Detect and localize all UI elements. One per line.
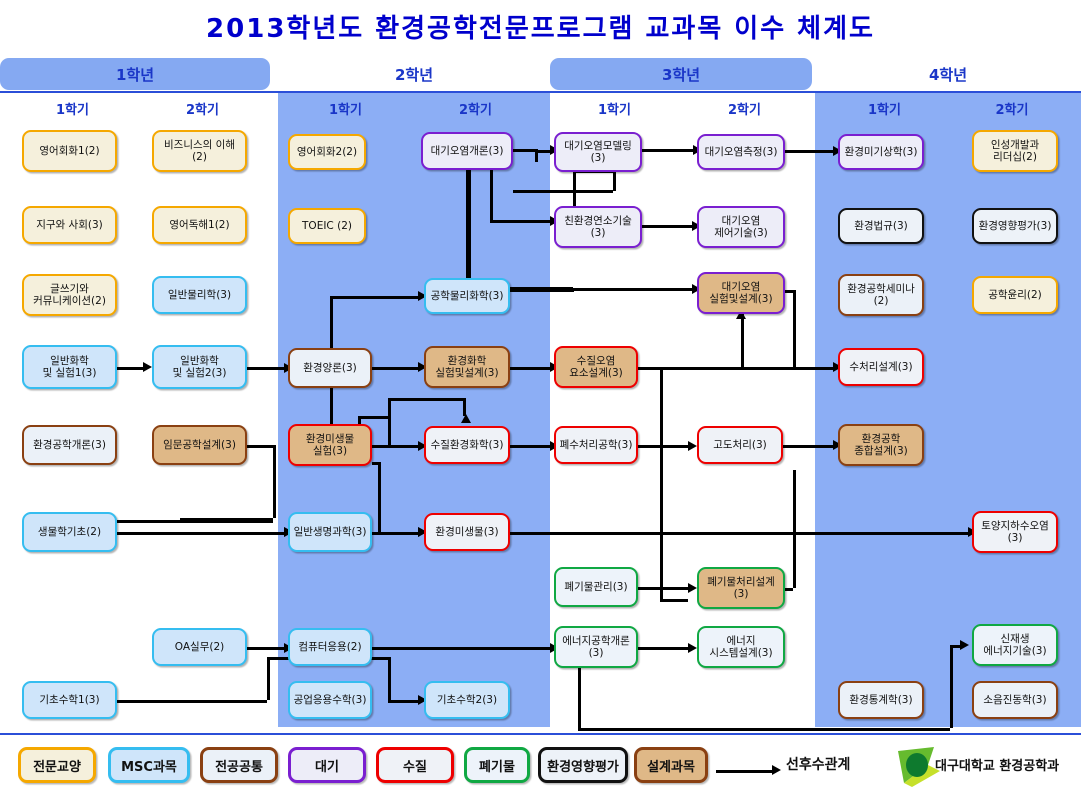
connector-arrowhead	[688, 643, 697, 653]
connector-segment	[510, 532, 968, 535]
course-box[interactable]: 환경미생물(3)	[424, 513, 510, 551]
connector-segment	[638, 647, 688, 650]
connector-segment	[574, 288, 692, 291]
legend-relation-label: 선후수관계	[786, 754, 850, 774]
connector-segment	[578, 668, 581, 730]
semester-header-6: 2학기	[682, 97, 807, 119]
legend-item[interactable]: 환경영향평가	[538, 747, 628, 783]
course-box[interactable]: 환경미기상학(3)	[838, 134, 924, 170]
course-box[interactable]: 일반생명과학(3)	[288, 512, 372, 552]
course-box[interactable]: 신재생 에너지기술(3)	[972, 624, 1058, 666]
connector-segment	[388, 398, 391, 446]
connector-segment	[513, 149, 535, 152]
connector-segment	[793, 290, 796, 370]
connector-segment	[741, 314, 744, 367]
connector-segment	[785, 150, 833, 153]
semester-header-4: 2학기	[413, 97, 538, 119]
semester-header-7: 1학기	[822, 97, 947, 119]
course-box[interactable]: 임문공학설계(3)	[152, 425, 247, 465]
connector-segment	[578, 728, 950, 731]
connector-segment	[117, 520, 273, 523]
university-label: 대구대학교 환경공학과	[935, 755, 1059, 774]
legend-item[interactable]: 폐기물	[464, 747, 530, 783]
connector-segment	[642, 225, 692, 228]
semester-header-5: 1학기	[552, 97, 677, 119]
course-box[interactable]: 환경양론(3)	[288, 348, 372, 388]
connector-segment	[273, 445, 276, 518]
connector-segment	[330, 296, 333, 348]
connector-segment	[468, 170, 471, 289]
connector-segment	[660, 599, 688, 602]
course-box[interactable]: TOEIC (2)	[288, 208, 366, 244]
course-box[interactable]: 고도처리(3)	[697, 426, 783, 464]
legend-item[interactable]: 전문교양	[18, 747, 96, 783]
connector-segment	[510, 445, 550, 448]
connector-segment	[490, 220, 552, 223]
semester-header-1: 1학기	[10, 97, 135, 119]
course-box[interactable]: OA실무(2)	[152, 628, 247, 666]
course-box[interactable]: 영어독해1(2)	[152, 206, 247, 244]
course-box[interactable]: 환경공학 종합설계(3)	[838, 424, 924, 466]
connector-segment	[247, 367, 288, 370]
course-box[interactable]: 일반물리학(3)	[152, 276, 247, 314]
connector-segment	[378, 462, 381, 534]
legend-item[interactable]: MSC과목	[108, 747, 190, 783]
course-box[interactable]: 일반화학 및 실험1(3)	[22, 345, 117, 389]
connector-segment	[372, 532, 418, 535]
course-box[interactable]: 인성개발과 리더십(2)	[972, 130, 1058, 172]
connector-arrowhead	[960, 640, 969, 650]
connector-segment	[793, 445, 833, 448]
course-box[interactable]: 폐기물처리설계 (3)	[697, 567, 785, 609]
course-box[interactable]: 대기오염 제어기술(3)	[697, 206, 785, 248]
course-box[interactable]: 영어회화2(2)	[288, 134, 366, 170]
legend-item[interactable]: 설계과목	[634, 747, 708, 783]
course-box[interactable]: 대기오염 실험및설계(3)	[697, 272, 785, 314]
course-box[interactable]: 환경화학 실험및설계(3)	[424, 346, 510, 388]
course-box[interactable]: 수질환경화학(3)	[424, 426, 510, 464]
year-header-1: 1학년	[0, 58, 270, 90]
course-box[interactable]: 일반화학 및 실험2(3)	[152, 345, 247, 389]
course-box[interactable]: 공학윤리(2)	[972, 276, 1058, 314]
connector-segment	[247, 445, 273, 448]
connector-segment	[660, 367, 663, 599]
connector-segment	[638, 587, 688, 590]
connector-segment	[638, 367, 833, 370]
connector-segment	[490, 170, 493, 222]
connector-segment	[785, 588, 793, 591]
course-box[interactable]: 대기오염측정(3)	[697, 134, 785, 170]
page-title: 2013학년도 환경공학전문프로그램 교과목 이수 체계도	[0, 8, 1081, 45]
legend-item[interactable]: 수질	[376, 747, 454, 783]
semester-header-8: 2학기	[952, 97, 1072, 119]
connector-segment	[372, 462, 378, 465]
course-box[interactable]: 폐수처리공학(3)	[554, 426, 638, 464]
course-box[interactable]: 토양지하수오염 (3)	[972, 511, 1058, 553]
connector-segment	[638, 445, 688, 448]
connector-arrowhead	[143, 362, 152, 372]
legend-item[interactable]: 대기	[288, 747, 366, 783]
connector-segment	[372, 445, 418, 448]
course-box[interactable]: 대기오염개론(3)	[421, 132, 513, 170]
year-header-4: 4학년	[815, 58, 1081, 90]
course-box[interactable]: 환경공학세미나 (2)	[838, 274, 924, 316]
connector-segment	[117, 700, 267, 703]
connector-arrowhead	[688, 583, 697, 593]
course-box[interactable]: 친환경연소기술 (3)	[554, 206, 642, 248]
connector-segment	[950, 645, 960, 648]
course-box[interactable]: 환경법규(3)	[838, 208, 924, 244]
course-box[interactable]: 컴퓨터응용(2)	[288, 628, 372, 666]
connector-segment	[785, 290, 793, 293]
connector-segment	[330, 296, 418, 299]
connector-segment	[358, 416, 388, 419]
legend-arrow-line	[716, 770, 774, 773]
course-box[interactable]: 생물학기초(2)	[22, 512, 117, 552]
connector-segment	[510, 367, 550, 370]
course-box[interactable]: 에너지 시스템설계(3)	[697, 626, 785, 668]
course-box[interactable]: 소음진동학(3)	[972, 681, 1058, 719]
connector-segment	[372, 647, 550, 650]
course-box[interactable]: 환경통계학(3)	[838, 681, 924, 719]
course-box[interactable]: 지구와 사회(3)	[22, 206, 117, 244]
course-box[interactable]: 환경영향평가(3)	[972, 208, 1058, 244]
connector-segment	[372, 367, 418, 370]
legend-bar: 전문교양MSC과목전공공통대기수질폐기물환경영향평가설계과목 선후수관계 대구대…	[0, 733, 1081, 796]
course-box[interactable]: 환경공학개론(3)	[22, 425, 117, 465]
connector-segment	[793, 470, 796, 588]
header-divider	[0, 91, 1081, 93]
legend-arrow-head	[772, 765, 781, 775]
connector-segment	[388, 700, 418, 703]
connector-segment	[950, 645, 953, 728]
connector-segment	[513, 190, 613, 193]
connector-segment	[247, 647, 284, 650]
legend-item[interactable]: 전공공통	[200, 747, 278, 783]
connector-segment	[388, 657, 391, 700]
year-header-2: 2학년	[278, 58, 550, 90]
connector-segment	[783, 445, 793, 448]
course-box[interactable]: 공학물리화학(3)	[424, 278, 510, 314]
course-box[interactable]: 수처리설계(3)	[838, 348, 924, 386]
course-box[interactable]: 공업응용수학(3)	[288, 681, 372, 719]
connector-segment	[388, 398, 463, 401]
connector-arrowhead	[461, 414, 471, 423]
course-box[interactable]: 수질오염 요소설계(3)	[554, 346, 638, 388]
semester-header-3: 1학기	[283, 97, 408, 119]
course-box[interactable]: 비즈니스의 이해 (2)	[152, 130, 247, 172]
connector-segment	[267, 657, 270, 700]
course-box[interactable]: 영어회화1(2)	[22, 130, 117, 172]
connector-segment	[117, 367, 143, 370]
connector-segment	[117, 532, 284, 535]
course-box[interactable]: 환경미생물 실험(3)	[288, 424, 372, 466]
course-box[interactable]: 폐기물관리(3)	[554, 567, 638, 607]
semester-header-2: 2학기	[140, 97, 265, 119]
connector-arrowhead	[688, 441, 697, 451]
course-box[interactable]: 대기오염모델링 (3)	[554, 132, 642, 172]
course-box[interactable]: 기초수학2(3)	[424, 681, 510, 719]
course-box[interactable]: 에너지공학개론 (3)	[554, 626, 638, 668]
year-header-3: 3학년	[550, 58, 812, 90]
course-box[interactable]: 글쓰기와 커뮤니케이션(2)	[22, 274, 117, 316]
course-box[interactable]: 기초수학1(3)	[22, 681, 117, 719]
